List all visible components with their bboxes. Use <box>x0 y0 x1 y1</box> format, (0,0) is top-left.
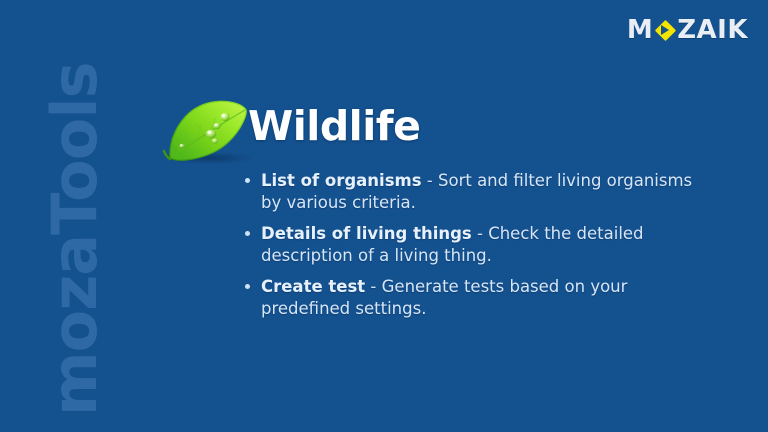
feature-item-list-of-organisms: List of organisms - Sort and filter livi… <box>243 170 713 214</box>
bullet-icon <box>245 284 250 289</box>
green-leaf-icon <box>160 96 252 172</box>
title-row: Wildlife <box>160 96 680 172</box>
bullet-icon <box>245 178 250 183</box>
logo-text-zaik: ZAIK <box>677 17 748 43</box>
page-title: Wildlife <box>248 104 420 149</box>
feature-separator: - <box>365 277 381 296</box>
bullet-icon <box>245 231 250 236</box>
feature-separator: - <box>422 171 438 190</box>
diamond-arrow-icon <box>654 19 676 41</box>
feature-separator: - <box>472 224 488 243</box>
leaf-svg <box>162 98 250 166</box>
feature-term: List of organisms <box>261 171 422 190</box>
logo-text: M ZAIK <box>627 17 748 43</box>
watermark-label: mozaTools <box>44 16 106 416</box>
slide-root: M ZAIK mozaTools <box>0 0 768 432</box>
feature-list: List of organisms - Sort and filter livi… <box>243 170 713 327</box>
feature-term: Create test <box>261 277 365 296</box>
feature-term: Details of living things <box>261 224 472 243</box>
logo-text-m: M <box>627 17 653 43</box>
feature-item-create-test: Create test - Generate tests based on yo… <box>243 276 713 320</box>
feature-item-details-of-living-things: Details of living things - Check the det… <box>243 223 713 267</box>
mozaik-logo[interactable]: M ZAIK <box>636 16 748 44</box>
watermark: mozaTools <box>0 0 150 432</box>
